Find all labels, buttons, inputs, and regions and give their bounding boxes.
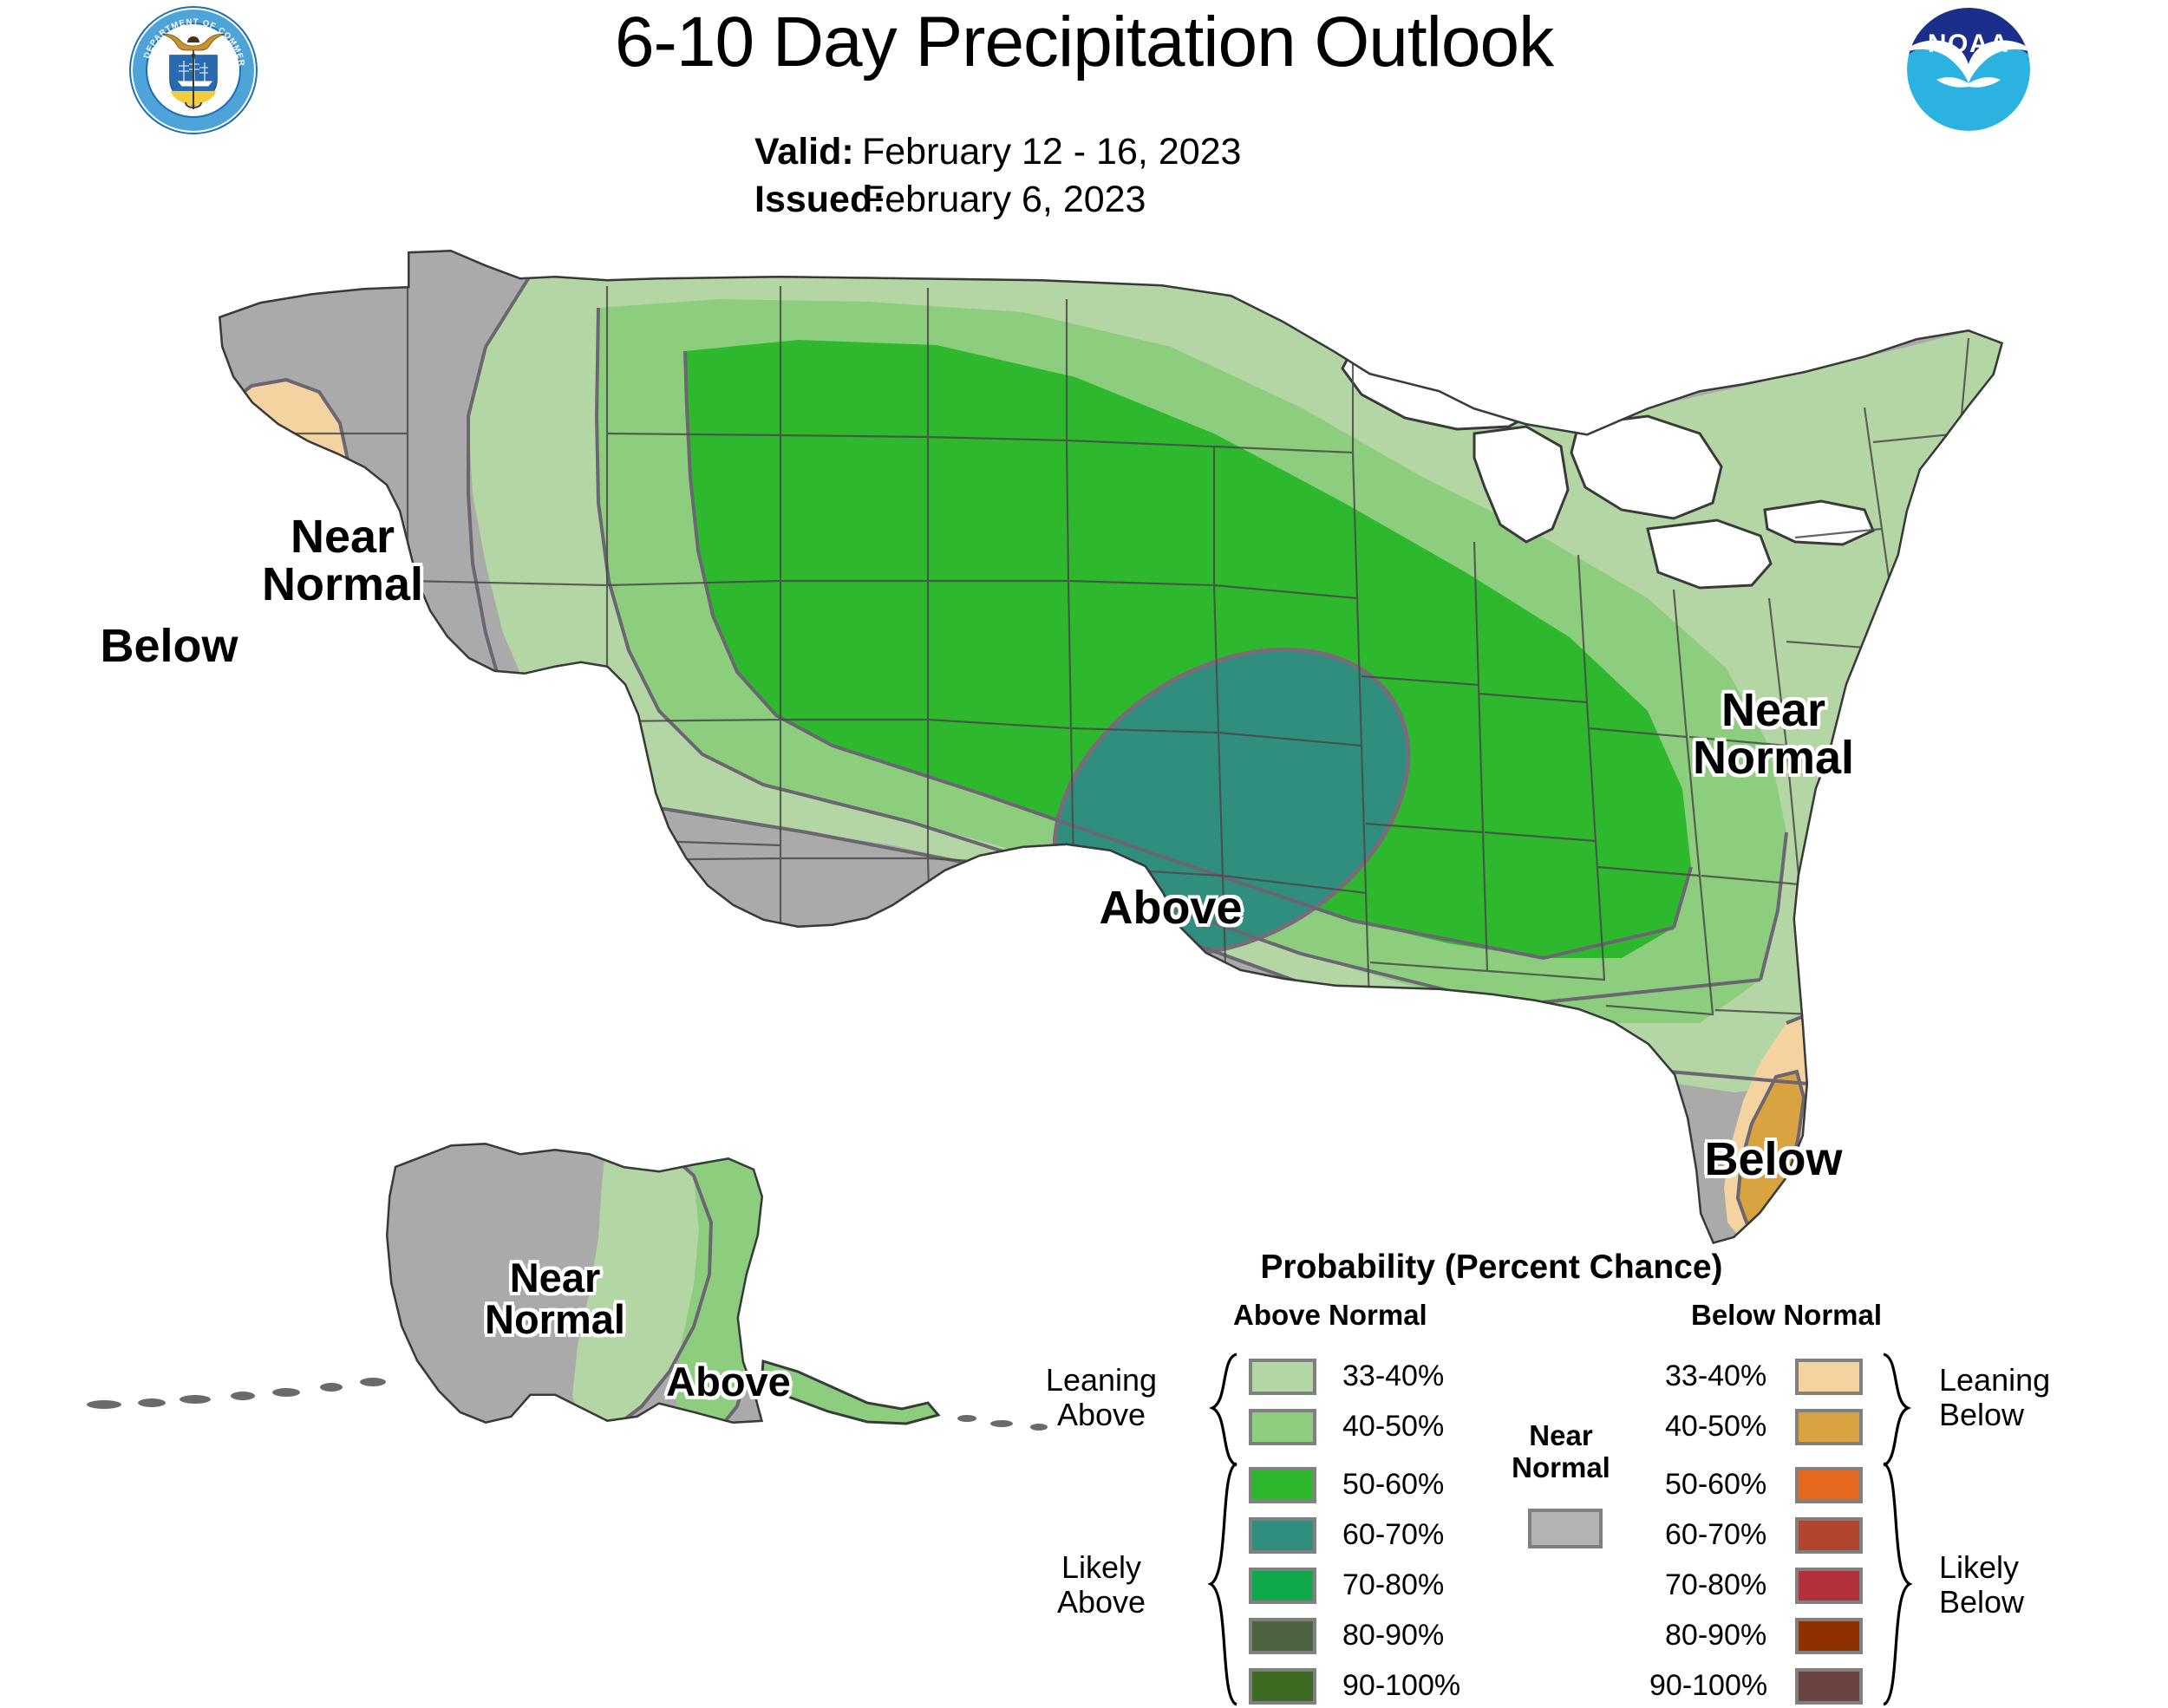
legend-pct-above-90-100: 90-100% — [1342, 1669, 1460, 1703]
legend-pct-below-70-80: 70-80% — [1665, 1568, 1766, 1602]
legend-pct-below-33-40: 33-40% — [1665, 1359, 1766, 1393]
outlook-map: Below Near Normal Above Near Normal Belo… — [0, 147, 2168, 1431]
legend-pct-above-60-70: 60-70% — [1342, 1518, 1444, 1552]
legend-leaning-below-label: Leaning Below — [1939, 1363, 2130, 1433]
legend-pct-below-90-100: 90-100% — [1649, 1669, 1767, 1703]
legend-swatch-above-50-60 — [1249, 1467, 1316, 1503]
legend-swatch-below-80-90 — [1795, 1618, 1863, 1654]
legend-title: Probability (Percent Chance) — [1188, 1248, 1795, 1287]
legend-swatch-below-60-70 — [1795, 1517, 1863, 1554]
legend-swatch-above-60-70 — [1249, 1517, 1316, 1554]
legend: Probability (Percent Chance) Above Norma… — [997, 1248, 2151, 1665]
brace-leaning-below — [1878, 1351, 1934, 1470]
alaska-panhandle — [761, 1361, 938, 1424]
alaska-map-group — [87, 1127, 1048, 1431]
legend-swatch-below-90-100 — [1795, 1668, 1863, 1705]
legend-likely-above-label: Likely Above — [1015, 1550, 1188, 1620]
outlook-page: DEPARTMENT OF COMMERCE UNITED STATES OF … — [0, 0, 2168, 1675]
legend-swatch-below-33-40 — [1795, 1359, 1863, 1395]
legend-swatch-above-40-50 — [1249, 1409, 1316, 1445]
legend-pct-below-80-90: 80-90% — [1665, 1619, 1766, 1653]
legend-swatch-below-50-60 — [1795, 1467, 1863, 1503]
legend-pct-above-50-60: 50-60% — [1342, 1468, 1444, 1502]
legend-leaning-above-label: Leaning Above — [1015, 1363, 1188, 1433]
legend-pct-below-60-70: 60-70% — [1665, 1518, 1766, 1552]
legend-swatch-above-33-40 — [1249, 1359, 1316, 1395]
legend-swatch-below-70-80 — [1795, 1568, 1863, 1604]
legend-above-heading: Above Normal — [1233, 1299, 1427, 1332]
legend-swatch-above-80-90 — [1249, 1618, 1316, 1654]
legend-below-heading: Below Normal — [1691, 1299, 1882, 1332]
legend-pct-above-40-50: 40-50% — [1342, 1410, 1444, 1444]
legend-swatch-above-90-100 — [1249, 1668, 1316, 1705]
legend-pct-below-50-60: 50-60% — [1665, 1468, 1766, 1502]
legend-swatch-near-normal — [1528, 1509, 1603, 1548]
legend-near-normal-label: Near Normal — [1483, 1420, 1639, 1484]
legend-pct-above-33-40: 33-40% — [1342, 1359, 1444, 1393]
legend-swatch-below-40-50 — [1795, 1409, 1863, 1445]
legend-pct-above-70-80: 70-80% — [1342, 1568, 1444, 1602]
brace-likely-below — [1878, 1460, 1934, 1708]
region-below-33-40-west — [212, 380, 349, 715]
legend-swatch-above-70-80 — [1249, 1568, 1316, 1604]
legend-pct-above-80-90: 80-90% — [1342, 1619, 1444, 1653]
brace-likely-above — [1186, 1460, 1242, 1708]
page-title: 6-10 Day Precipitation Outlook — [0, 5, 2168, 80]
brace-leaning-above — [1186, 1351, 1242, 1470]
legend-likely-below-label: Likely Below — [1939, 1550, 2130, 1620]
legend-pct-below-40-50: 40-50% — [1665, 1410, 1766, 1444]
conus-map-group — [0, 147, 2168, 1431]
